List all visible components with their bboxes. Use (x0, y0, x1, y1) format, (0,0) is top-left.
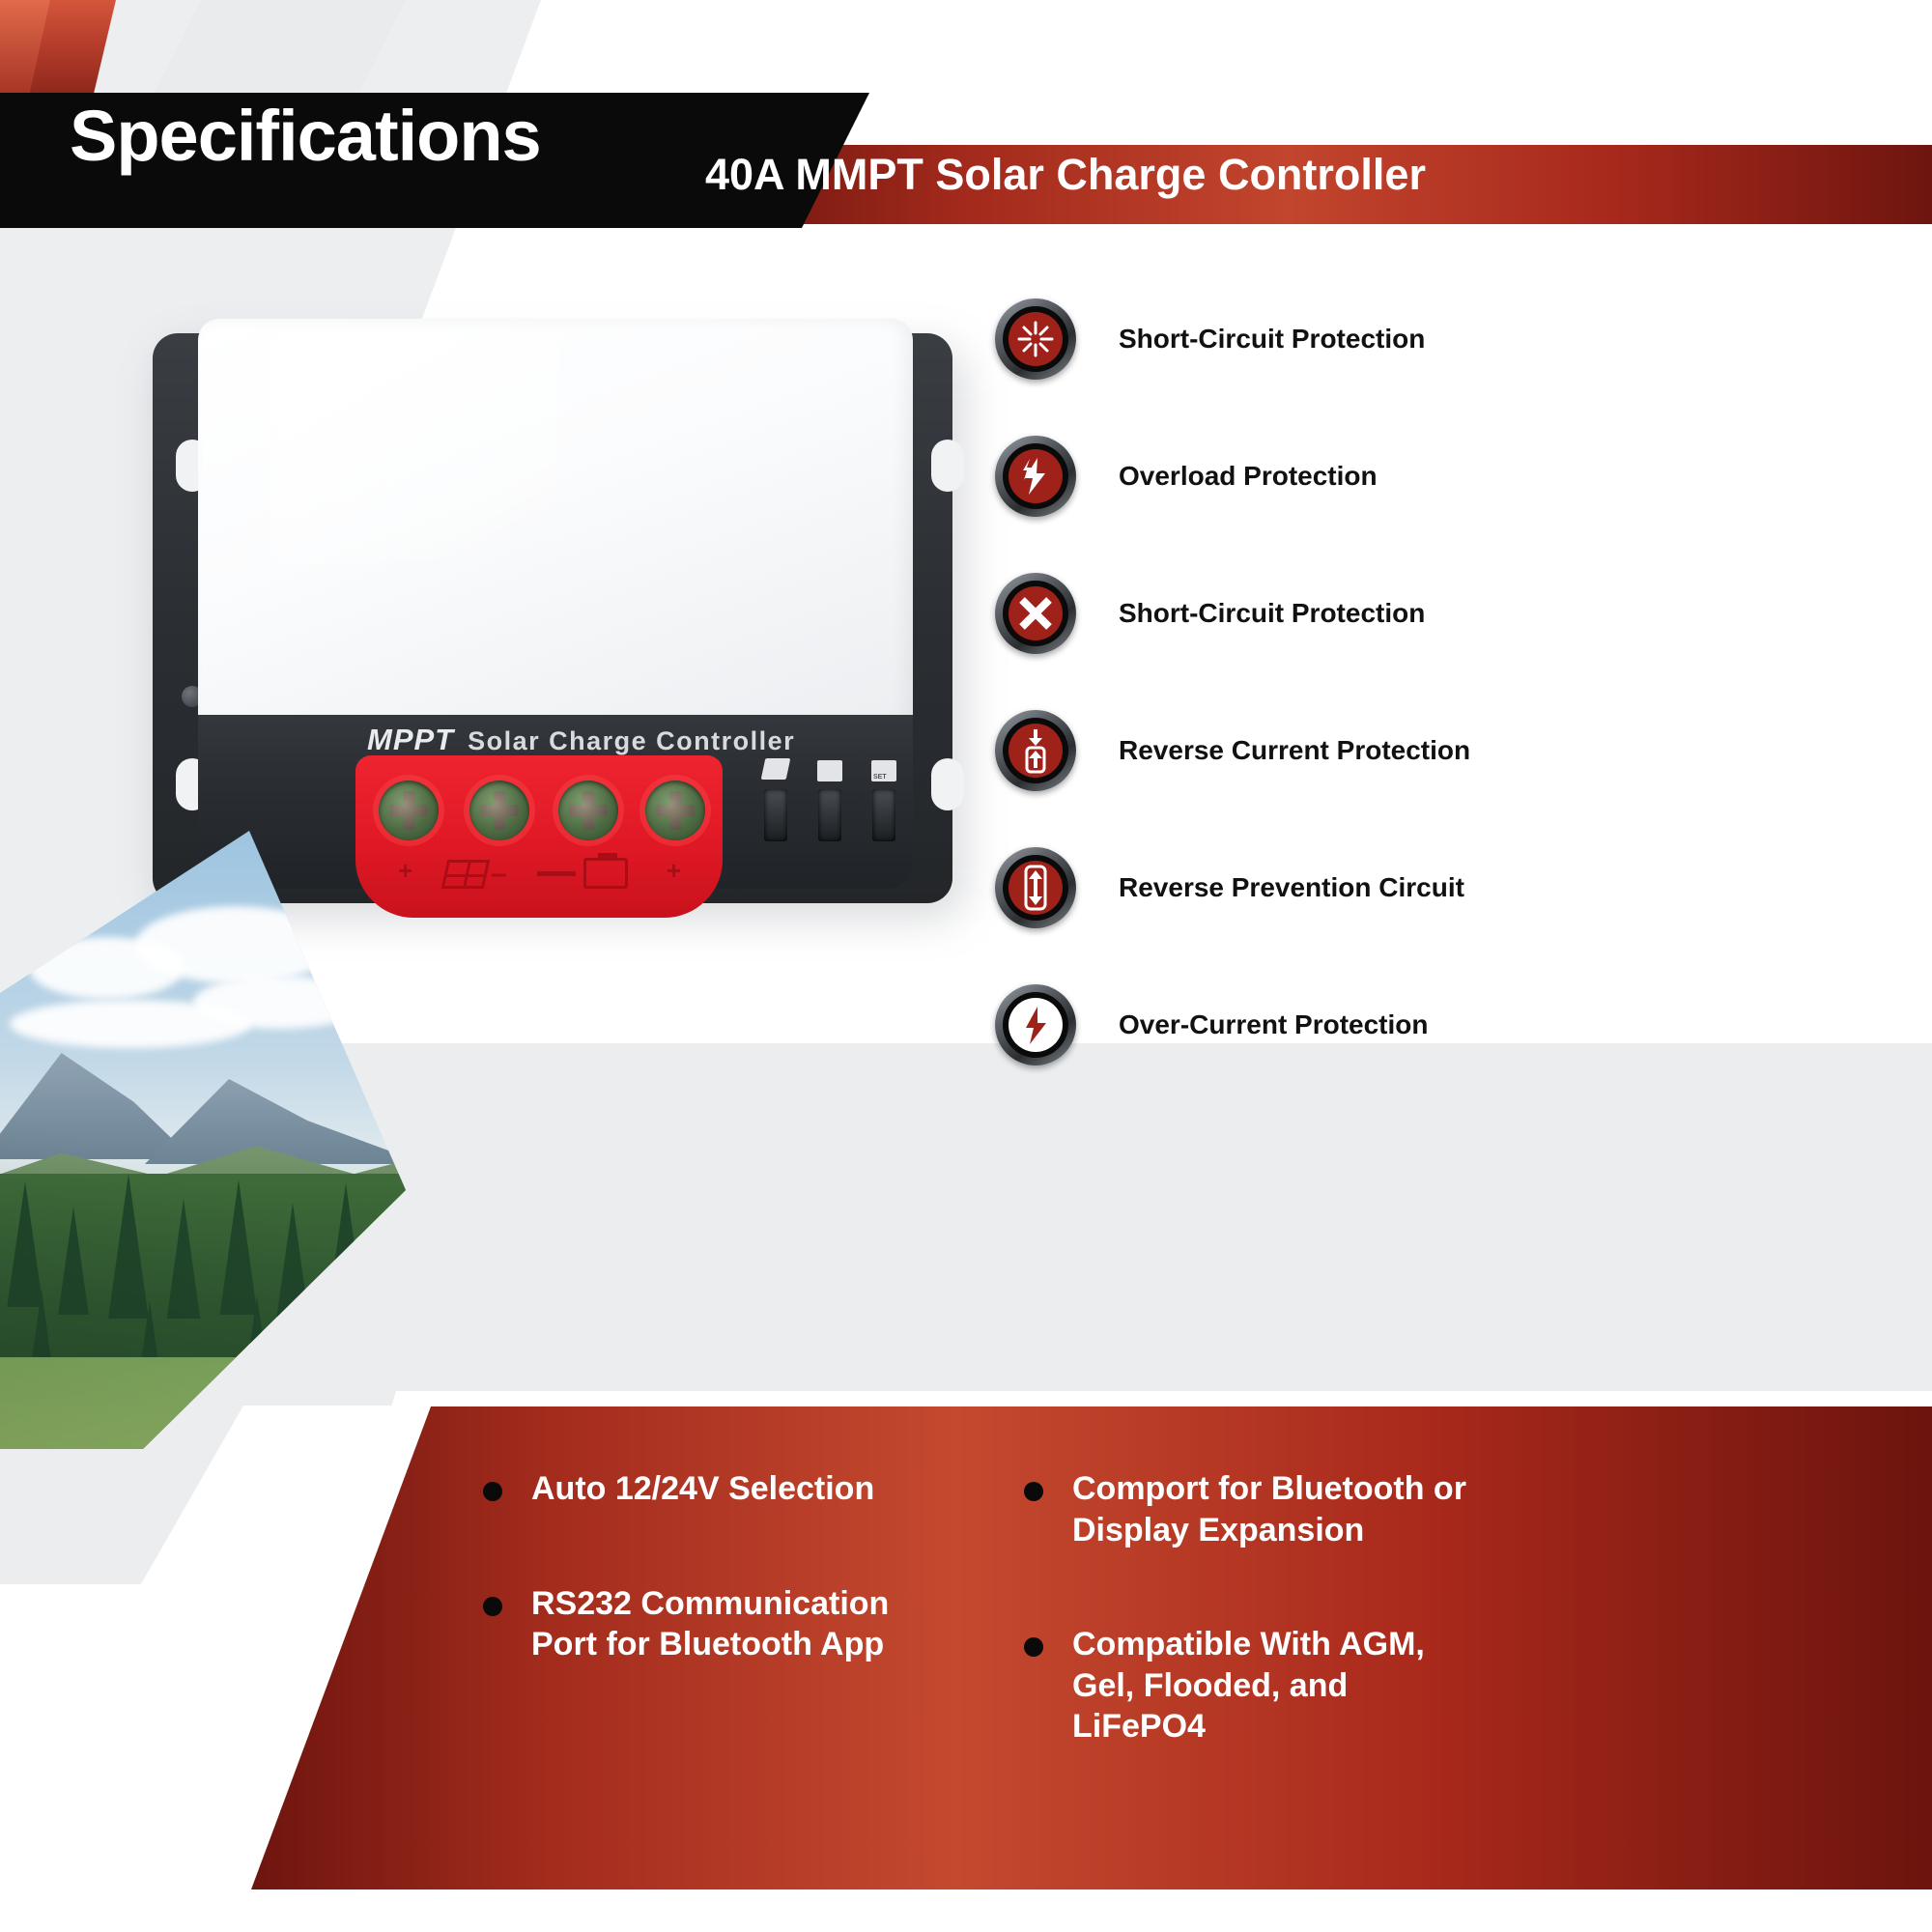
x-cross-icon (1009, 586, 1063, 640)
feature-row-reverse-current: Reverse Current Protection (995, 682, 1913, 819)
feature-row-reverse-prevention: Reverse Prevention Circuit (995, 819, 1913, 956)
terminal-plus-label-right: + (667, 856, 681, 886)
bullet-text: Comport for Bluetooth or Display Expansi… (1072, 1468, 1478, 1550)
down-up-arrow-box-icon (1009, 724, 1063, 778)
bullet-column-left: Auto 12/24V Selection RS232 Communicatio… (483, 1468, 937, 1739)
terminal-dash-line (537, 871, 576, 876)
product-image: MPPTSolar Charge Controller + – + SET (145, 319, 966, 908)
icon-inner-ring (1003, 443, 1068, 509)
icon-inner-ring (1003, 992, 1068, 1058)
bidirectional-arrow-box-icon (1009, 861, 1063, 915)
feature-row-short-circuit-2: Short-Circuit Protection (995, 545, 1913, 682)
brand-mppt-text: MPPT (367, 723, 454, 756)
bullet-text: RS232 Communication Port for Bluetooth A… (531, 1583, 937, 1665)
bullet-dot-icon (483, 1597, 502, 1616)
feature-label: Overload Protection (1119, 461, 1378, 492)
battery-glyph-icon (583, 858, 628, 889)
bullet-dot-icon (1024, 1637, 1043, 1657)
bullet-dot-icon (1024, 1482, 1043, 1501)
terminal-screw-4 (645, 781, 705, 840)
terminal-screw-1 (379, 781, 439, 840)
product-brand-label: MPPTSolar Charge Controller (367, 723, 795, 757)
icon-inner-ring (1003, 306, 1068, 372)
icon-bezel (995, 710, 1076, 791)
bullet-item: Comport for Bluetooth or Display Expansi… (1024, 1468, 1478, 1550)
feature-list: Short-Circuit Protection Overload Protec… (995, 270, 1913, 1094)
icon-bezel (995, 298, 1076, 380)
feature-row-short-circuit-1: Short-Circuit Protection (995, 270, 1913, 408)
feature-row-overload: Overload Protection (995, 408, 1913, 545)
icon-inner-ring (1003, 718, 1068, 783)
icon-bezel (995, 984, 1076, 1065)
product-front-panel (198, 319, 913, 724)
feature-label: Short-Circuit Protection (1119, 324, 1425, 355)
double-lightning-bolt-icon (1009, 449, 1063, 503)
bullet-column-right: Comport for Bluetooth or Display Expansi… (1024, 1468, 1478, 1821)
solar-panel-indicator-icon (761, 758, 791, 780)
bullet-item: Compatible With AGM, Gel, Flooded, and L… (1024, 1624, 1478, 1747)
feature-label: Short-Circuit Protection (1119, 598, 1425, 629)
feature-label: Reverse Prevention Circuit (1119, 872, 1464, 903)
lightning-bolt-shield-icon (1009, 998, 1063, 1052)
icon-bezel (995, 436, 1076, 517)
bullet-text: Compatible With AGM, Gel, Flooded, and L… (1072, 1624, 1478, 1747)
icon-inner-ring (1003, 581, 1068, 646)
terminal-minus-label: – (491, 858, 507, 891)
solar-panel-glyph-icon (441, 860, 490, 889)
led-slot-2 (818, 789, 841, 841)
battery-set-indicator-icon: SET (871, 760, 896, 781)
bullet-item: RS232 Communication Port for Bluetooth A… (483, 1583, 937, 1665)
feature-label: Reverse Current Protection (1119, 735, 1470, 766)
icon-bezel (995, 573, 1076, 654)
mount-tab-top-right (931, 440, 964, 492)
starburst-spark-icon (1009, 312, 1063, 366)
brand-subtitle-text: Solar Charge Controller (468, 726, 795, 755)
product-title: 40A MMPT Solar Charge Controller (705, 150, 1426, 200)
feature-row-over-current: Over-Current Protection (995, 956, 1913, 1094)
feature-label: Over-Current Protection (1119, 1009, 1429, 1040)
panel-gloss-highlight (270, 332, 560, 564)
footer-bullet-lists: Auto 12/24V Selection RS232 Communicatio… (0, 1391, 1932, 1874)
icon-bezel (995, 847, 1076, 928)
battery-indicator-icon (817, 760, 842, 781)
bullet-dot-icon (483, 1482, 502, 1501)
mount-tab-bottom-right (931, 758, 964, 810)
bullet-item: Auto 12/24V Selection (483, 1468, 937, 1510)
terminal-screw-2 (469, 781, 529, 840)
page-title: Specifications (70, 100, 541, 172)
terminal-screw-3 (558, 781, 618, 840)
terminal-block: + – + (355, 755, 723, 918)
icon-inner-ring (1003, 855, 1068, 921)
led-slot-1 (764, 789, 787, 841)
footer-banner: Auto 12/24V Selection RS232 Communicatio… (0, 1391, 1932, 1932)
bullet-text: Auto 12/24V Selection (531, 1468, 874, 1510)
led-slot-3 (872, 789, 895, 841)
set-label: SET (873, 774, 887, 781)
terminal-plus-label-left: + (398, 856, 412, 886)
